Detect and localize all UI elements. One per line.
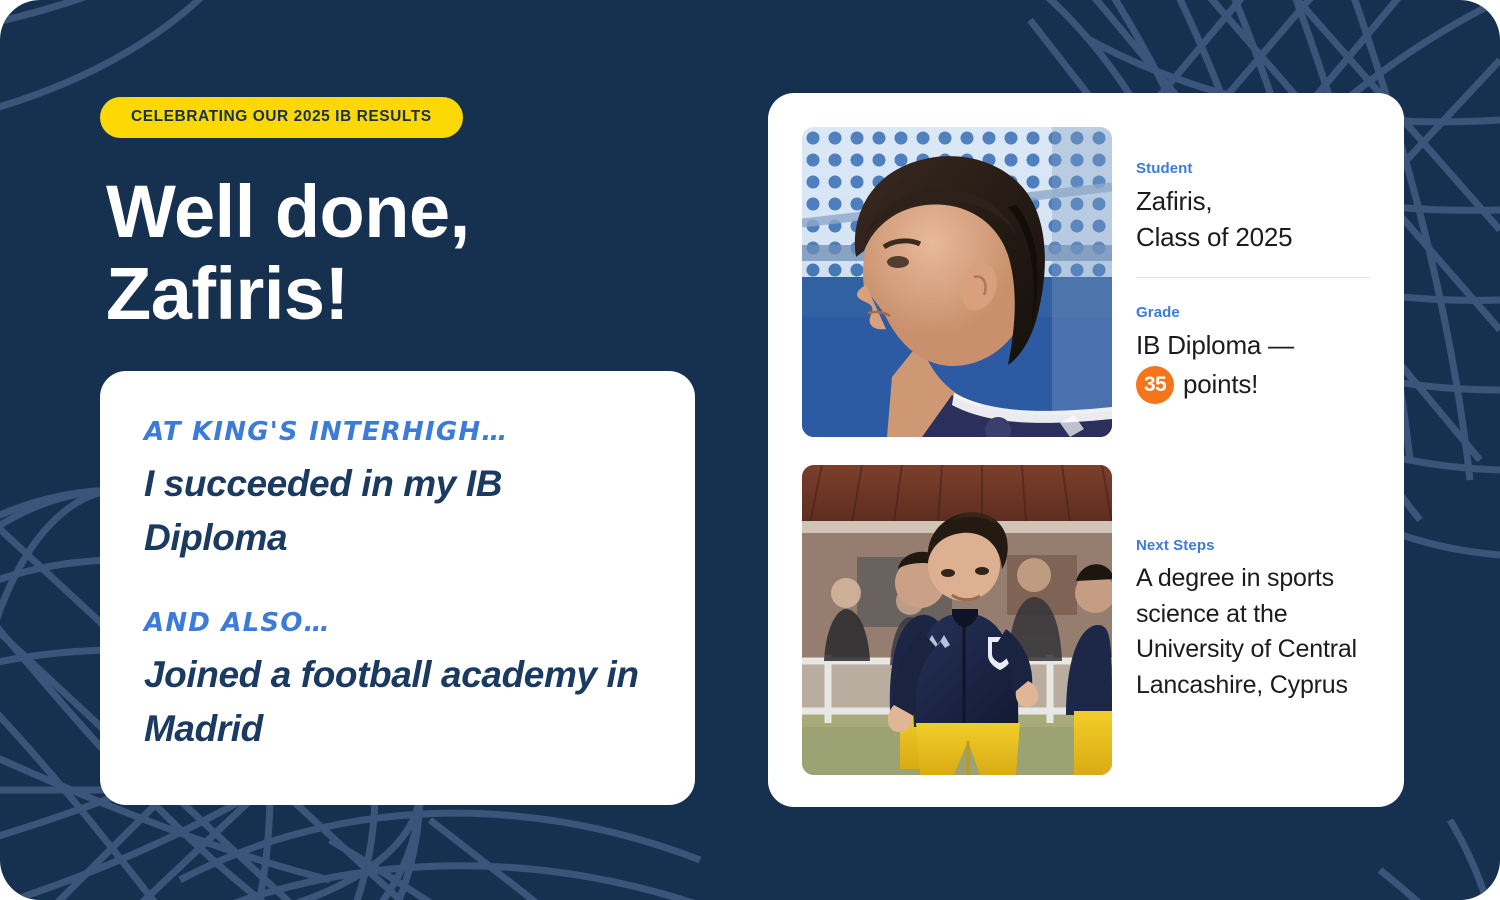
points-badge: 35 — [1136, 366, 1174, 404]
detail-divider-1 — [1136, 277, 1370, 278]
quote-text-and-also: Joined a football academy in Madrid — [144, 648, 651, 755]
student-quote-card: AT KING'S INTERHIGH… I succeeded in my I… — [100, 371, 695, 805]
profile-row-student: Student Zafiris, Class of 2025 Grade IB … — [802, 127, 1370, 437]
student-portrait-photo — [802, 127, 1112, 437]
detail-label-grade: Grade — [1136, 304, 1370, 321]
profile-row-next-steps: Next Steps A degree in sports science at… — [802, 465, 1370, 775]
points-suffix-label: points! — [1183, 367, 1258, 403]
detail-block-student: Student Zafiris, Class of 2025 — [1136, 160, 1370, 256]
results-eyebrow-badge: CELEBRATING OUR 2025 IB RESULTS — [100, 97, 463, 138]
detail-value-student: Zafiris, Class of 2025 — [1136, 184, 1370, 256]
detail-label-student: Student — [1136, 160, 1370, 177]
detail-block-next-steps: Next Steps A degree in sports science at… — [1136, 537, 1370, 703]
quote-label-at-kings-interhigh: AT KING'S INTERHIGH… — [144, 419, 651, 445]
hero-column: CELEBRATING OUR 2025 IB RESULTS Well don… — [100, 97, 700, 336]
detail-block-grade: Grade IB Diploma — 35 points! — [1136, 304, 1370, 404]
next-steps-detail-column: Next Steps A degree in sports science at… — [1136, 465, 1370, 775]
results-celebration-poster: CELEBRATING OUR 2025 IB RESULTS Well don… — [0, 0, 1500, 900]
grade-points-line: 35 points! — [1136, 366, 1370, 404]
detail-value-next-steps: A degree in sports science at the Univer… — [1136, 561, 1370, 703]
quote-block-and-also: AND ALSO… Joined a football academy in M… — [144, 610, 651, 755]
detail-label-next-steps: Next Steps — [1136, 537, 1370, 554]
detail-value-grade: IB Diploma — — [1136, 328, 1370, 364]
quote-label-and-also: AND ALSO… — [144, 610, 651, 636]
page-title: Well done, Zafiris! — [106, 171, 700, 337]
quote-text-achievement: I succeeded in my IB Diploma — [144, 457, 651, 564]
student-detail-column: Student Zafiris, Class of 2025 Grade IB … — [1136, 127, 1370, 437]
student-football-photo — [802, 465, 1112, 775]
student-profile-card: Student Zafiris, Class of 2025 Grade IB … — [768, 93, 1404, 807]
quote-block-achievement: AT KING'S INTERHIGH… I succeeded in my I… — [144, 419, 651, 564]
